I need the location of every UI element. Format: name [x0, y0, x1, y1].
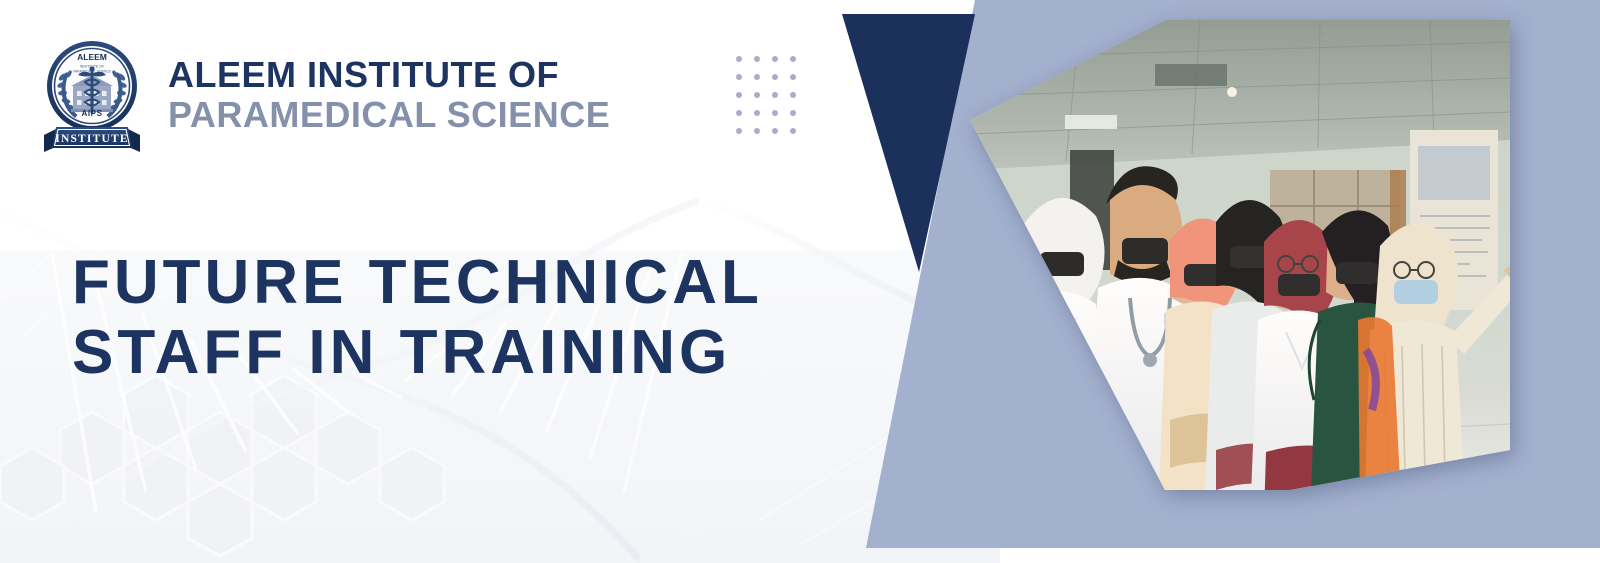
- grid-dot: [772, 92, 778, 98]
- brand-text: ALEEM INSTITUTE OF PARAMEDICAL SCIENCE: [168, 57, 610, 133]
- grid-dot: [772, 74, 778, 80]
- grid-dot: [772, 128, 778, 134]
- grid-dot: [736, 128, 742, 134]
- grid-dot: [736, 56, 742, 62]
- grid-dot: [754, 56, 760, 62]
- grid-dot: [790, 74, 796, 80]
- aleem-institute-seal: ALEEM INSTITUTE OF PARAMEDICAL SCIENCE: [36, 36, 148, 154]
- grid-dot: [754, 110, 760, 116]
- left-content-column: ALEEM INSTITUTE OF PARAMEDICAL SCIENCE: [0, 0, 860, 563]
- grid-dot: [790, 128, 796, 134]
- photo-collage: [970, 20, 1510, 520]
- grid-dot: [736, 92, 742, 98]
- page-title: FUTURE TECHNICAL STAFF IN TRAINING: [72, 248, 763, 388]
- brand-name-line-1: ALEEM INSTITUTE OF: [168, 57, 610, 93]
- grid-dot: [736, 74, 742, 80]
- shoes: [1168, 499, 1358, 520]
- grid-dot: [772, 110, 778, 116]
- seal-ribbon: INSTITUTE: [44, 127, 140, 152]
- grid-dot: [790, 110, 796, 116]
- grid-dot: [754, 92, 760, 98]
- dot-grid-pattern: [736, 56, 808, 146]
- banner-root: ALEEM INSTITUTE OF PARAMEDICAL SCIENCE: [0, 0, 1600, 563]
- seal-ribbon-text: INSTITUTE: [55, 133, 128, 145]
- seal-top-text: ALEEM: [77, 52, 107, 62]
- grid-dot: [790, 92, 796, 98]
- grid-dot: [790, 56, 796, 62]
- grid-dot: [772, 56, 778, 62]
- grid-dot: [736, 110, 742, 116]
- grid-dot: [754, 74, 760, 80]
- headline-line-1: FUTURE TECHNICAL: [72, 248, 763, 318]
- headline-line-2: STAFF IN TRAINING: [72, 318, 763, 388]
- grid-dot: [754, 128, 760, 134]
- seal-abbreviation: AIPS: [81, 109, 102, 118]
- seal-icon: ALEEM INSTITUTE OF PARAMEDICAL SCIENCE: [36, 36, 148, 154]
- photo-illustration: [970, 20, 1510, 520]
- brand-name-line-2: PARAMEDICAL SCIENCE: [168, 97, 610, 133]
- paramedical-students-group-photo: [970, 20, 1510, 520]
- person-1: [970, 232, 1046, 520]
- brand-lockup: ALEEM INSTITUTE OF PARAMEDICAL SCIENCE: [36, 36, 610, 154]
